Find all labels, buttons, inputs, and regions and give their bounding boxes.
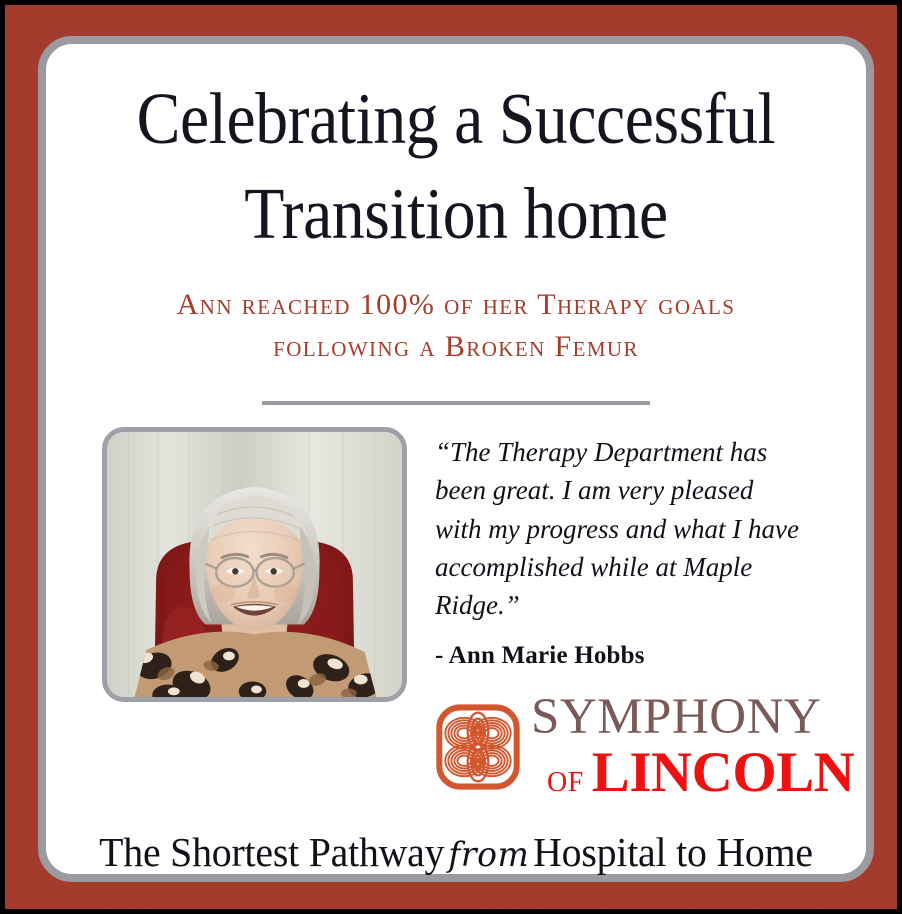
logo-wordmark: SYMPHONY OFLINCOLN [531, 694, 820, 801]
quote-attribution: - Ann Marie Hobbs [435, 625, 820, 670]
quote-column: “The Therapy Department has been great. … [435, 427, 820, 800]
symphony-of-lincoln-logo: SYMPHONY OFLINCOLN [435, 670, 820, 801]
symphony-flower-mark-icon [435, 702, 521, 792]
tagline-script-word: from [444, 835, 533, 875]
divider-container [80, 369, 832, 405]
marketing-poster: Celebrating a Successful Transition home… [0, 0, 902, 914]
resident-photo-frame [102, 427, 407, 702]
page-title: Celebrating a Successful Transition home [118, 44, 795, 262]
contact-address-line: 2202 N. Kickapoo Street|Lincoln, IL 6265… [80, 876, 832, 914]
tagline-part-one: The Shortest Pathway [99, 829, 444, 875]
resident-photo [107, 432, 402, 697]
logo-second-line: OFLINCOLN [531, 742, 820, 801]
subtitle: Ann reached 100% of her Therapy goals fo… [80, 262, 832, 369]
address-phone: Phone: 217.735.1538 [601, 900, 831, 914]
horizontal-divider [262, 401, 650, 405]
testimonial-section: “The Therapy Department has been great. … [80, 405, 832, 800]
address-separator-1: | [361, 900, 381, 914]
address-city-state-zip: Lincoln, IL 62656 [380, 900, 581, 914]
logo-of-text: OF [531, 767, 592, 798]
logo-symphony-text: SYMPHONY [531, 694, 820, 742]
poster-card: Celebrating a Successful Transition home… [38, 36, 874, 882]
logo-lincoln-text: LINCOLN [592, 741, 855, 804]
tagline-part-two: Hospital to Home [533, 829, 813, 875]
tagline: The Shortest PathwayfromHospital to Home [91, 800, 820, 875]
testimonial-quote: “The Therapy Department has been great. … [435, 433, 820, 625]
address-street: 2202 N. Kickapoo Street [81, 900, 360, 914]
address-separator-2: | [581, 900, 601, 914]
